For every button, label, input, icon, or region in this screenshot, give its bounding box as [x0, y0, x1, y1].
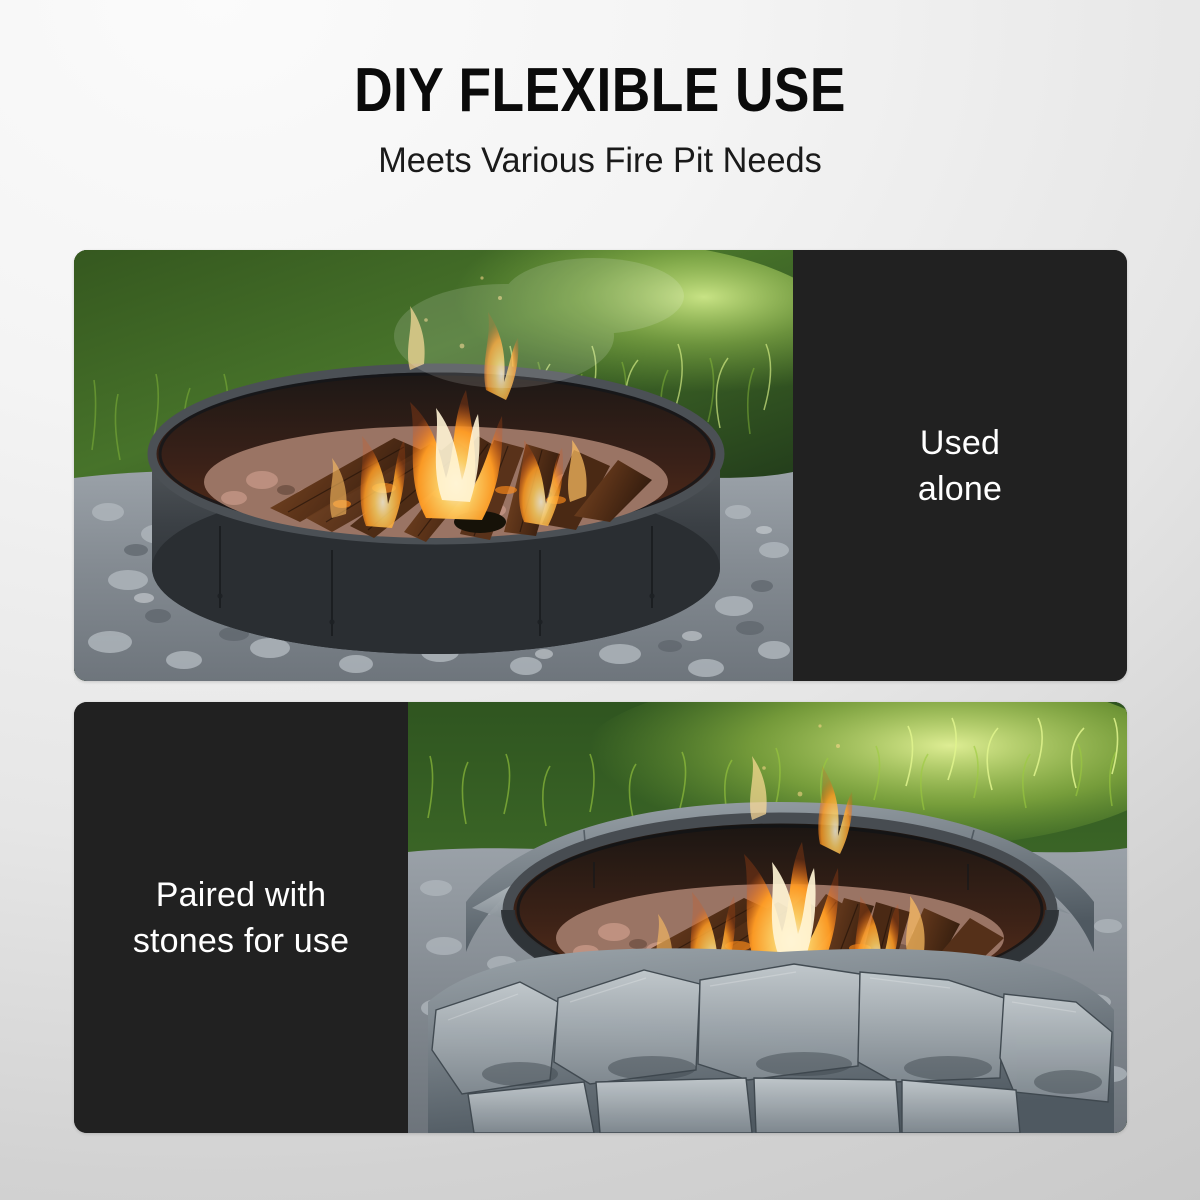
photo-fire-ring-with-stones [408, 702, 1127, 1133]
caption-panel-used-alone: Used alone [793, 250, 1127, 681]
page-title: DIY FLEXIBLE USE [84, 0, 1116, 124]
caption-paired-with-stones: Paired with stones for use [133, 872, 349, 964]
page-subtitle: Meets Various Fire Pit Needs [12, 124, 1188, 181]
photo-fire-ring-alone [74, 250, 793, 681]
stone-wall-front [428, 948, 1114, 1133]
scene-fire-ring-alone [74, 250, 793, 681]
scene-fire-ring-with-stones [408, 702, 1127, 1133]
card-paired-with-stones: Paired with stones for use [74, 702, 1127, 1133]
caption-panel-paired-with-stones: Paired with stones for use [74, 702, 408, 1133]
header: DIY FLEXIBLE USE Meets Various Fire Pit … [0, 0, 1200, 181]
infographic-page: DIY FLEXIBLE USE Meets Various Fire Pit … [0, 0, 1200, 1200]
card-used-alone: Used alone [74, 250, 1127, 681]
caption-used-alone: Used alone [918, 420, 1002, 512]
